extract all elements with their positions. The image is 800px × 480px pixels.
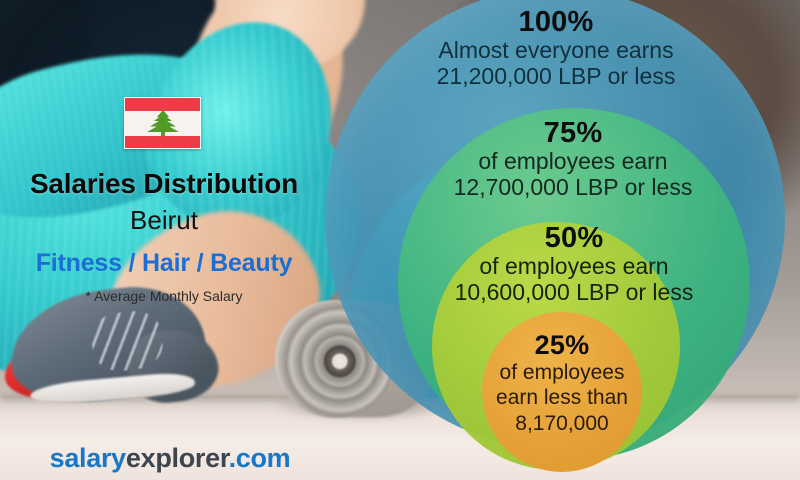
label-percentile-100: 100% Almost everyone earns 21,200,000 LB… (393, 6, 719, 90)
desc-100-line2: 21,200,000 LBP or less (393, 64, 719, 90)
title-block: Salaries Distribution Beirut Fitness / H… (0, 168, 328, 304)
desc-75-line2: 12,700,000 LBP or less (414, 175, 732, 201)
label-percentile-75: 75% of employees earn 12,700,000 LBP or … (414, 117, 732, 201)
cedar-tree-icon (146, 110, 180, 136)
percent-50: 50% (406, 222, 742, 254)
salary-note: * Average Monthly Salary (0, 288, 328, 304)
brand-part-explorer: explorer (126, 443, 229, 473)
job-category-label: Fitness / Hair / Beauty (0, 249, 328, 278)
lebanon-flag-icon (124, 97, 201, 149)
infographic-canvas: 100% Almost everyone earns 21,200,000 LB… (0, 0, 800, 480)
label-percentile-50: 50% of employees earn 10,600,000 LBP or … (406, 222, 742, 306)
brand-logo[interactable]: salaryexplorer.com (0, 443, 340, 474)
percent-100: 100% (393, 6, 719, 38)
desc-25-line2: earn less than (472, 385, 652, 410)
desc-50-line2: 10,600,000 LBP or less (406, 280, 742, 306)
desc-25-line1: of employees (472, 360, 652, 385)
flag-band-bottom (125, 136, 200, 149)
brand-part-salary: salary (50, 443, 126, 473)
flag-band-top (125, 98, 200, 111)
brand-part-tld: .com (229, 443, 291, 473)
desc-25-line3: 8,170,000 (472, 411, 652, 436)
page-title: Salaries Distribution (0, 168, 328, 200)
desc-50-line1: of employees earn (406, 254, 742, 280)
desc-75-line1: of employees earn (414, 149, 732, 175)
label-percentile-25: 25% of employees earn less than 8,170,00… (472, 330, 652, 436)
percent-25: 25% (472, 330, 652, 360)
percent-75: 75% (414, 117, 732, 149)
desc-100-line1: Almost everyone earns (393, 38, 719, 64)
city-label: Beirut (0, 205, 328, 236)
